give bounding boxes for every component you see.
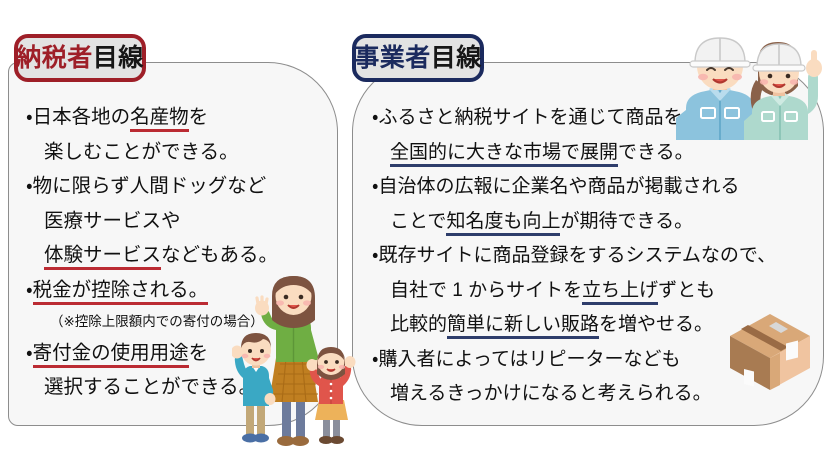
line-text: 選択することができる。 <box>44 376 258 398</box>
line-underlined: 体験サービス <box>44 244 161 270</box>
line-text: ずとも <box>658 280 715 301</box>
line-text: できる。 <box>618 142 694 163</box>
line-text: 増えるきっかけになると考えられる。 <box>390 383 712 404</box>
female-worker-figure <box>744 42 822 140</box>
workers-illustration <box>668 22 828 140</box>
line-bullet: ・ <box>26 342 33 364</box>
line-text: ・ふるさと納税サイトを通じて商品を <box>372 107 682 128</box>
line-text: ・日本各地の <box>26 106 130 128</box>
list-item: 自社で 1 からサイトを立ち上げずとも <box>372 281 792 300</box>
list-item: 体験サービスなどもある。 <box>26 246 286 266</box>
taxpayer-perspective-tab: 納税者目線 <box>14 34 146 82</box>
list-item: 医療サービスや <box>26 212 286 232</box>
line-text: ことで <box>390 211 446 232</box>
list-item: ことで知名度も向上が期待できる。 <box>372 212 792 231</box>
list-item: 全国的に大きな市場で展開できる。 <box>372 143 792 162</box>
line-text: が期待できる。 <box>560 211 693 232</box>
line-text: ・既存サイトに商品登録をするシステムなので、 <box>372 245 776 266</box>
business-tab-rest: 目線 <box>431 44 482 72</box>
line-text: を <box>189 106 209 128</box>
business-tab-accent: 事業者 <box>354 44 431 72</box>
comparison-diagram: 納税者目線 ・日本各地の名産物を 楽しむことができる。 ・物に限らず人間ドッグな… <box>0 0 832 460</box>
line-text: ・購入者によってはリピーターなども <box>372 349 681 370</box>
cardboard-box-illustration <box>724 306 816 398</box>
boy-figure <box>232 333 276 443</box>
list-item: ・物に限らず人間ドッグなど <box>26 177 286 197</box>
line-text: を増やせる。 <box>599 314 713 335</box>
line-underlined: 知名度も向上 <box>446 211 560 236</box>
line-text: を <box>189 342 209 364</box>
line-text: 医療サービスや <box>44 210 181 232</box>
family-illustration <box>232 272 358 450</box>
taxpayer-tab-rest: 目線 <box>93 44 144 72</box>
list-item: ・既存サイトに商品登録をするシステムなので、 <box>372 246 792 265</box>
line-text: ・物に限らず人間ドッグなど <box>26 175 266 197</box>
taxpayer-tab-accent: 納税者 <box>16 44 93 72</box>
list-item: ・自治体の広報に企業名や商品が掲載される <box>372 177 792 196</box>
line-underlined: 簡単に新しい販路 <box>447 314 599 339</box>
line-text: ・自治体の広報に企業名や商品が掲載される <box>372 176 739 197</box>
line-bullet: ・ <box>26 279 33 301</box>
line-text: 自社で 1 からサイトを <box>390 280 582 301</box>
line-underlined: 寄付金の使用用途 <box>33 342 189 368</box>
line-underlined: 税金が控除される。 <box>33 279 209 305</box>
list-item: ・日本各地の名産物を <box>26 108 286 128</box>
line-underlined: 名産物 <box>130 106 189 132</box>
line-text: 楽しむことができる。 <box>44 141 239 163</box>
line-underlined: 立ち上げ <box>582 280 658 305</box>
line-text: 比較的 <box>390 314 447 335</box>
line-text: などもある。 <box>161 244 278 266</box>
business-perspective-tab: 事業者目線 <box>352 34 484 82</box>
list-item: 楽しむことができる。 <box>26 143 286 163</box>
line-underlined: 全国的に大きな市場で展開 <box>390 142 618 167</box>
